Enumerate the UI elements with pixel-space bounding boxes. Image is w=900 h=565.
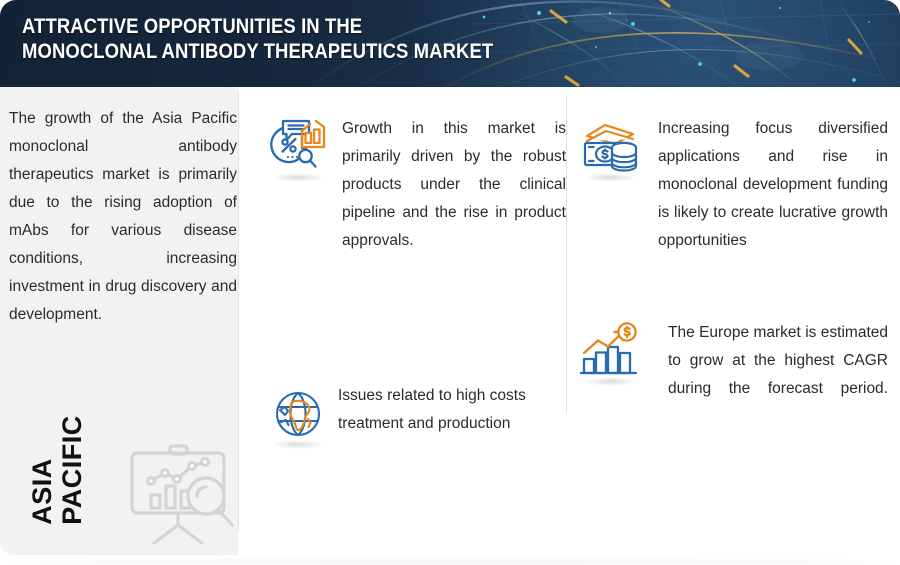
divider-middle: [566, 95, 567, 413]
market-analysis-icon: [266, 115, 330, 179]
content-area: The growth of the Asia Pacific monoclona…: [0, 87, 900, 555]
region-label-text: ASIA PACIFIC: [27, 415, 87, 525]
header-banner: ATTRACTIVE OPPORTUNITIES IN THE MONOCLON…: [0, 0, 900, 87]
infographic-page: ATTRACTIVE OPPORTUNITIES IN THE MONOCLON…: [0, 0, 900, 565]
region-label: ASIA PACIFIC: [0, 405, 122, 535]
card-europe: The Europe market is estimated to grow a…: [578, 319, 888, 431]
card-europe-text: The Europe market is estimated to grow a…: [668, 319, 888, 431]
icon-shadow: [272, 173, 324, 182]
card-issues: Issues related to high costs treatment a…: [266, 382, 566, 446]
page-bottom-shadow: [8, 560, 892, 565]
growth-chart-dollar-icon: [578, 319, 642, 383]
card-funding: Increasing focus diversified application…: [578, 115, 888, 283]
card-issues-text: Issues related to high costs treatment a…: [338, 382, 566, 438]
card-growth-text: Growth in this market is primarily drive…: [342, 115, 566, 283]
card-funding-text: Increasing focus diversified application…: [658, 115, 888, 283]
icon-shadow: [272, 440, 324, 449]
card-growth: Growth in this market is primarily drive…: [266, 115, 566, 283]
region-summary-paragraph: The growth of the Asia Pacific monoclona…: [9, 105, 237, 357]
icon-shadow: [584, 377, 636, 386]
money-funding-icon: [578, 115, 642, 179]
globe-icon: [266, 382, 330, 446]
page-title: ATTRACTIVE OPPORTUNITIES IN THE MONOCLON…: [22, 14, 585, 64]
icon-shadow: [584, 173, 636, 182]
presentation-chart-magnifier-icon: [120, 439, 240, 547]
